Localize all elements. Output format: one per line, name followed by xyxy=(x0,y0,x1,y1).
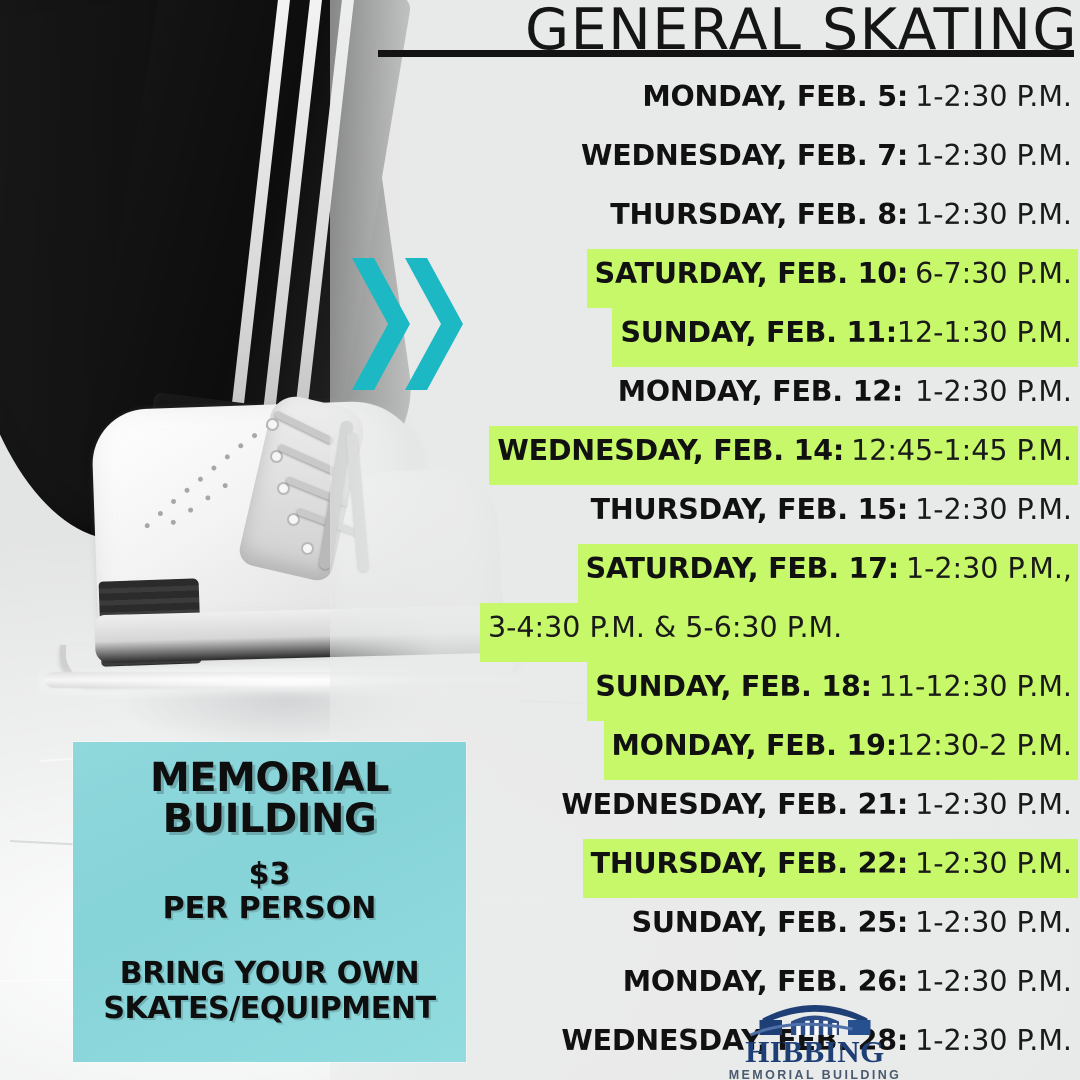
schedule-day: THURSDAY, FEB. 22: xyxy=(591,847,908,880)
schedule-time: 1-2:30 P.M. xyxy=(915,847,1072,880)
schedule-row: WEDNESDAY, FEB. 21:1-2:30 P.M. xyxy=(480,780,1078,839)
schedule-time: 1-2:30 P.M. xyxy=(915,965,1072,998)
schedule-time: 1-2:30 P.M. xyxy=(915,906,1072,939)
schedule-row: SUNDAY, FEB. 25:1-2:30 P.M. xyxy=(480,898,1078,957)
schedule-row-highlighted: WEDNESDAY, FEB. 14:12:45-1:45 P.M. xyxy=(480,426,1078,485)
price-unit: PER PERSON xyxy=(163,891,377,926)
schedule-time: 11-12:30 P.M. xyxy=(879,670,1072,703)
schedule-row: MONDAY, FEB. 12:1-2:30 P.M. xyxy=(480,367,1078,426)
schedule-day: WEDNESDAY, FEB. 7: xyxy=(581,139,908,172)
schedule-time: 6-7:30 P.M. xyxy=(915,257,1072,290)
venue-info-panel: MEMORIAL BUILDING $3 PER PERSON BRING YO… xyxy=(73,742,466,1062)
schedule-row-highlighted: SUNDAY, FEB. 18:11-12:30 P.M. xyxy=(480,662,1078,721)
schedule-row-highlighted: SATURDAY, FEB. 10:6-7:30 P.M. xyxy=(480,249,1078,308)
schedule-time: 1-2:30 P.M. xyxy=(915,139,1072,172)
schedule-time: 12-1:30 P.M. xyxy=(897,316,1072,349)
venue-note-line2: SKATES/EQUIPMENT xyxy=(103,991,435,1026)
schedule-day: SATURDAY, FEB. 17: xyxy=(586,552,899,585)
schedule-day: SATURDAY, FEB. 10: xyxy=(595,257,908,290)
schedule-day: SUNDAY, FEB. 18: xyxy=(595,670,871,703)
schedule-time: 1-2:30 P.M. xyxy=(915,788,1072,821)
schedule-row-highlighted: MONDAY, FEB. 19:12:30-2 P.M. xyxy=(480,721,1078,780)
schedule-time: 1-2:30 P.M. xyxy=(915,493,1072,526)
logo-subtitle: MEMORIAL BUILDING xyxy=(700,1068,930,1080)
schedule-row: THURSDAY, FEB. 8:1-2:30 P.M. xyxy=(480,190,1078,249)
schedule-day: WEDNESDAY, FEB. 14: xyxy=(497,434,844,467)
schedule-row: THURSDAY, FEB. 15:1-2:30 P.M. xyxy=(480,485,1078,544)
schedule-time: 1-2:30 P.M. xyxy=(915,375,1072,408)
hibbing-logo: HIBBING MEMORIAL BUILDING xyxy=(700,996,930,1080)
schedule-row: WEDNESDAY, FEB. 7:1-2:30 P.M. xyxy=(480,131,1078,190)
hibbing-memorial-building-icon xyxy=(740,996,890,1038)
schedule-time: 12:45-1:45 P.M. xyxy=(851,434,1072,467)
venue-title: MEMORIAL BUILDING xyxy=(73,758,466,840)
schedule-time: 1-2:30 P.M. xyxy=(915,1024,1072,1057)
schedule-day: SUNDAY, FEB. 11: xyxy=(620,316,896,349)
venue-title-line2: BUILDING xyxy=(163,796,377,842)
schedule-time: 3-4:30 P.M. & 5-6:30 P.M. xyxy=(488,611,842,644)
venue-note: BRING YOUR OWN SKATES/EQUIPMENT xyxy=(73,956,466,1026)
schedule-day: MONDAY, FEB. 12: xyxy=(618,375,903,408)
schedule-day: THURSDAY, FEB. 15: xyxy=(591,493,908,526)
schedule-list: MONDAY, FEB. 5:1-2:30 P.M. WEDNESDAY, FE… xyxy=(480,72,1078,1080)
schedule-day: THURSDAY, FEB. 8: xyxy=(610,198,908,231)
schedule-day: MONDAY, FEB. 19: xyxy=(612,729,897,762)
schedule-row-continuation: 3-4:30 P.M. & 5-6:30 P.M. xyxy=(480,603,1078,662)
schedule-day: MONDAY, FEB. 5: xyxy=(642,80,908,113)
schedule-row-highlighted: THURSDAY, FEB. 22:1-2:30 P.M. xyxy=(480,839,1078,898)
venue-note-line1: BRING YOUR OWN xyxy=(120,956,419,991)
venue-price: $3 PER PERSON xyxy=(73,858,466,926)
price-amount: $3 xyxy=(249,857,291,892)
schedule-row-highlighted: SUNDAY, FEB. 11:12-1:30 P.M. xyxy=(480,308,1078,367)
schedule-row: MONDAY, FEB. 5:1-2:30 P.M. xyxy=(480,72,1078,131)
schedule-day: WEDNESDAY, FEB. 21: xyxy=(561,788,908,821)
schedule-time: 12:30-2 P.M. xyxy=(897,729,1072,762)
schedule-time: 1-2:30 P.M. xyxy=(915,198,1072,231)
logo-name: HIBBING xyxy=(700,1036,930,1067)
title-underline xyxy=(378,50,1074,57)
schedule-time: 1-2:30 P.M., xyxy=(906,552,1072,585)
schedule-time: 1-2:30 P.M. xyxy=(915,80,1072,113)
chevron-right-icon xyxy=(352,258,410,390)
chevron-right-icon-2 xyxy=(405,258,463,390)
schedule-row-highlighted: SATURDAY, FEB. 17:1-2:30 P.M., xyxy=(480,544,1078,603)
schedule-day: SUNDAY, FEB. 25: xyxy=(632,906,908,939)
venue-title-line1: MEMORIAL xyxy=(150,755,389,801)
schedule-day: MONDAY, FEB. 26: xyxy=(623,965,908,998)
poster-canvas: GENERAL SKATING MONDAY, FEB. 5:1-2:30 P.… xyxy=(0,0,1080,1080)
